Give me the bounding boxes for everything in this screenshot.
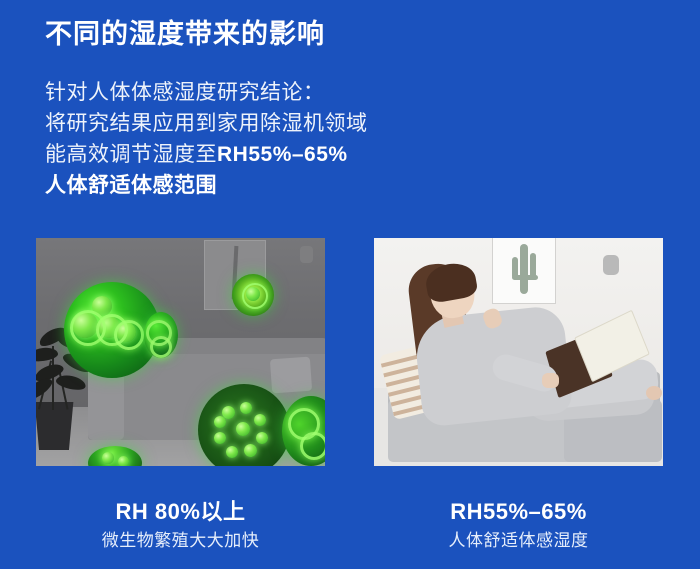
caption-comfort-humidity: RH55%–65% 人体舒适体感湿度 <box>374 498 663 554</box>
body-line-4: 人体舒适体感范围 <box>45 170 368 201</box>
wall-speaker-icon <box>300 246 313 263</box>
body-line-2: 将研究结果应用到家用除湿机领域 <box>45 108 368 139</box>
person-hand-on-book <box>542 373 559 388</box>
microbe-large-bottom <box>198 384 290 466</box>
humidity-infographic-poster: 不同的湿度带来的影响 针对人体体感湿度研究结论： 将研究结果应用到家用除湿机领域… <box>0 0 700 569</box>
body-line-3: 能高效调节湿度至RH55%–65% <box>45 139 368 170</box>
cactus-art-frame-icon <box>492 238 556 304</box>
caption-title: RH55%–65% <box>374 498 663 526</box>
photo-high-humidity <box>36 238 325 466</box>
caption-title: RH 80%以上 <box>36 498 325 526</box>
wall-speaker-icon <box>603 255 619 275</box>
person-foot <box>646 386 662 400</box>
body-line-3-highlight: RH55%–65% <box>217 143 348 166</box>
microbe-edge-partial <box>144 312 178 358</box>
caption-subtitle: 人体舒适体感湿度 <box>374 528 663 554</box>
sofa-cushion <box>270 357 312 394</box>
photo-comfort-humidity <box>374 238 663 466</box>
microbe-small-upper-right <box>232 274 274 316</box>
body-copy: 针对人体体感湿度研究结论： 将研究结果应用到家用除湿机领域 能高效调节湿度至RH… <box>45 77 368 201</box>
body-line-1: 针对人体体感湿度研究结论： <box>45 77 368 108</box>
caption-high-humidity: RH 80%以上 微生物繁殖大大加快 <box>36 498 325 554</box>
page-title: 不同的湿度带来的影响 <box>45 17 325 52</box>
body-line-3-prefix: 能高效调节湿度至 <box>45 143 217 166</box>
caption-subtitle: 微生物繁殖大大加快 <box>36 528 325 554</box>
